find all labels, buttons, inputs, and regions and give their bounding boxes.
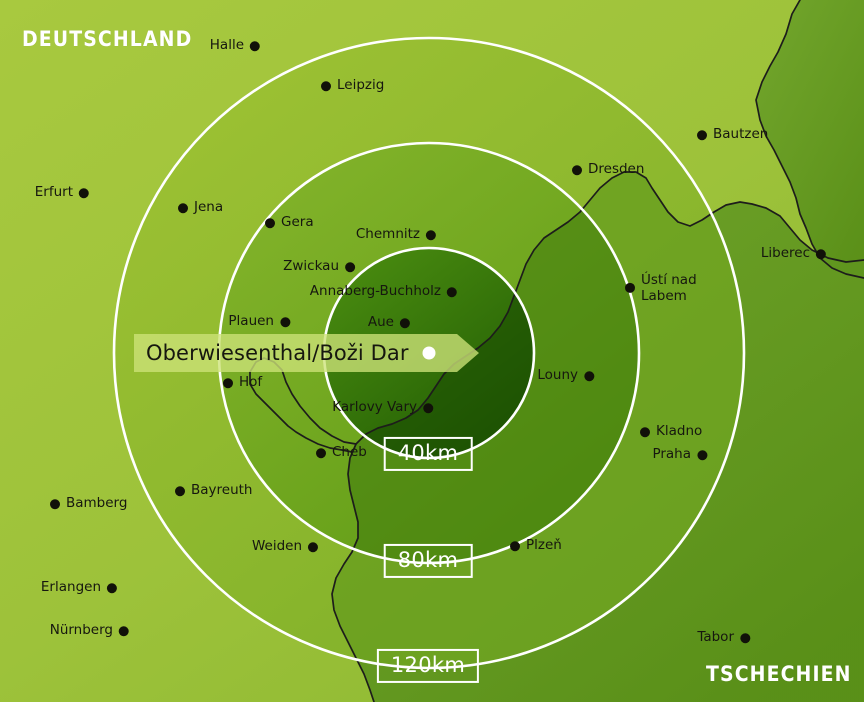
city-label: Plzeň — [526, 538, 562, 554]
city-dot-icon — [178, 203, 188, 213]
city-marker[interactable]: Jena — [178, 200, 223, 216]
city-dot-icon — [321, 81, 331, 91]
city-marker[interactable]: Gera — [265, 215, 314, 231]
city-label: Erfurt — [35, 185, 73, 201]
city-label: Tabor — [697, 630, 734, 646]
country-label-tschechien: TSCHECHIEN — [706, 662, 852, 686]
city-label: Aue — [368, 315, 394, 331]
city-marker[interactable]: Plzeň — [510, 538, 562, 554]
city-dot-icon — [250, 41, 260, 51]
city-dot-icon — [423, 403, 433, 413]
distance-map: DEUTSCHLAND TSCHECHIEN HalleLeipzigBautz… — [0, 0, 864, 702]
city-dot-icon — [584, 371, 594, 381]
country-label-deutschland: DEUTSCHLAND — [22, 27, 192, 51]
city-marker[interactable]: Louny — [537, 368, 594, 384]
city-label: Praha — [652, 447, 691, 463]
city-dot-icon — [572, 165, 582, 175]
city-marker[interactable]: Chemnitz — [356, 227, 436, 243]
city-marker[interactable]: Aue — [368, 315, 410, 331]
city-dot-icon — [119, 626, 129, 636]
city-marker[interactable]: Praha — [652, 447, 707, 463]
city-dot-icon — [265, 218, 275, 228]
city-label: Karlovy Vary — [332, 400, 417, 416]
city-dot-icon — [280, 317, 290, 327]
city-label: Jena — [194, 200, 223, 216]
city-label: Chemnitz — [356, 227, 420, 243]
city-marker[interactable]: Annaberg-Buchholz — [310, 284, 457, 300]
city-label: Leipzig — [337, 78, 384, 94]
city-label: Weiden — [252, 539, 302, 555]
city-marker[interactable]: Karlovy Vary — [332, 400, 433, 416]
city-marker[interactable]: Cheb — [316, 445, 367, 461]
city-label: Louny — [537, 368, 578, 384]
city-marker[interactable]: Ústí nad Labem — [625, 272, 697, 304]
city-label: Hof — [239, 375, 262, 391]
city-dot-icon — [625, 283, 635, 293]
city-marker[interactable]: Dresden — [572, 162, 644, 178]
city-label: Cheb — [332, 445, 367, 461]
city-label: Bayreuth — [191, 483, 253, 499]
center-location-label: Oberwiesenthal/Boži Dar — [146, 341, 409, 365]
city-label: Liberec — [761, 246, 810, 262]
city-label: Zwickau — [283, 259, 339, 275]
city-marker[interactable]: Zwickau — [283, 259, 355, 275]
city-dot-icon — [697, 130, 707, 140]
city-label: Gera — [281, 215, 314, 231]
city-dot-icon — [79, 188, 89, 198]
city-label: Kladno — [656, 424, 702, 440]
city-dot-icon — [50, 499, 60, 509]
city-marker[interactable]: Halle — [210, 38, 260, 54]
city-marker[interactable]: Erlangen — [41, 580, 117, 596]
city-dot-icon — [316, 448, 326, 458]
city-marker[interactable]: Weiden — [252, 539, 318, 555]
city-dot-icon — [345, 262, 355, 272]
ring-label-120km: 120km — [377, 649, 479, 683]
city-label: Nürnberg — [50, 623, 113, 639]
ring-label-80km: 80km — [384, 544, 473, 578]
city-label: Halle — [210, 38, 244, 54]
city-label: Dresden — [588, 162, 644, 178]
city-dot-icon — [223, 378, 233, 388]
city-dot-icon — [816, 249, 826, 259]
city-dot-icon — [308, 542, 318, 552]
city-marker[interactable]: Bayreuth — [175, 483, 253, 499]
center-location-marker[interactable] — [423, 347, 436, 360]
city-marker[interactable]: Kladno — [640, 424, 702, 440]
city-dot-icon — [697, 450, 707, 460]
city-label: Annaberg-Buchholz — [310, 284, 441, 300]
city-marker[interactable]: Tabor — [697, 630, 750, 646]
city-dot-icon — [400, 318, 410, 328]
city-marker[interactable]: Hof — [223, 375, 262, 391]
city-marker[interactable]: Plauen — [228, 314, 290, 330]
city-label: Bautzen — [713, 127, 768, 143]
ring-label-40km: 40km — [384, 437, 473, 471]
city-marker[interactable]: Liberec — [761, 246, 826, 262]
city-dot-icon — [107, 583, 117, 593]
city-label: Plauen — [228, 314, 274, 330]
city-dot-icon — [640, 427, 650, 437]
city-label: Erlangen — [41, 580, 101, 596]
city-marker[interactable]: Nürnberg — [50, 623, 129, 639]
city-marker[interactable]: Bautzen — [697, 127, 768, 143]
city-dot-icon — [426, 230, 436, 240]
city-dot-icon — [740, 633, 750, 643]
city-dot-icon — [510, 541, 520, 551]
city-label: Ústí nad Labem — [641, 272, 697, 304]
city-marker[interactable]: Bamberg — [50, 496, 127, 512]
city-label: Bamberg — [66, 496, 127, 512]
city-dot-icon — [175, 486, 185, 496]
city-dot-icon — [447, 287, 457, 297]
city-marker[interactable]: Leipzig — [321, 78, 384, 94]
city-marker[interactable]: Erfurt — [35, 185, 89, 201]
